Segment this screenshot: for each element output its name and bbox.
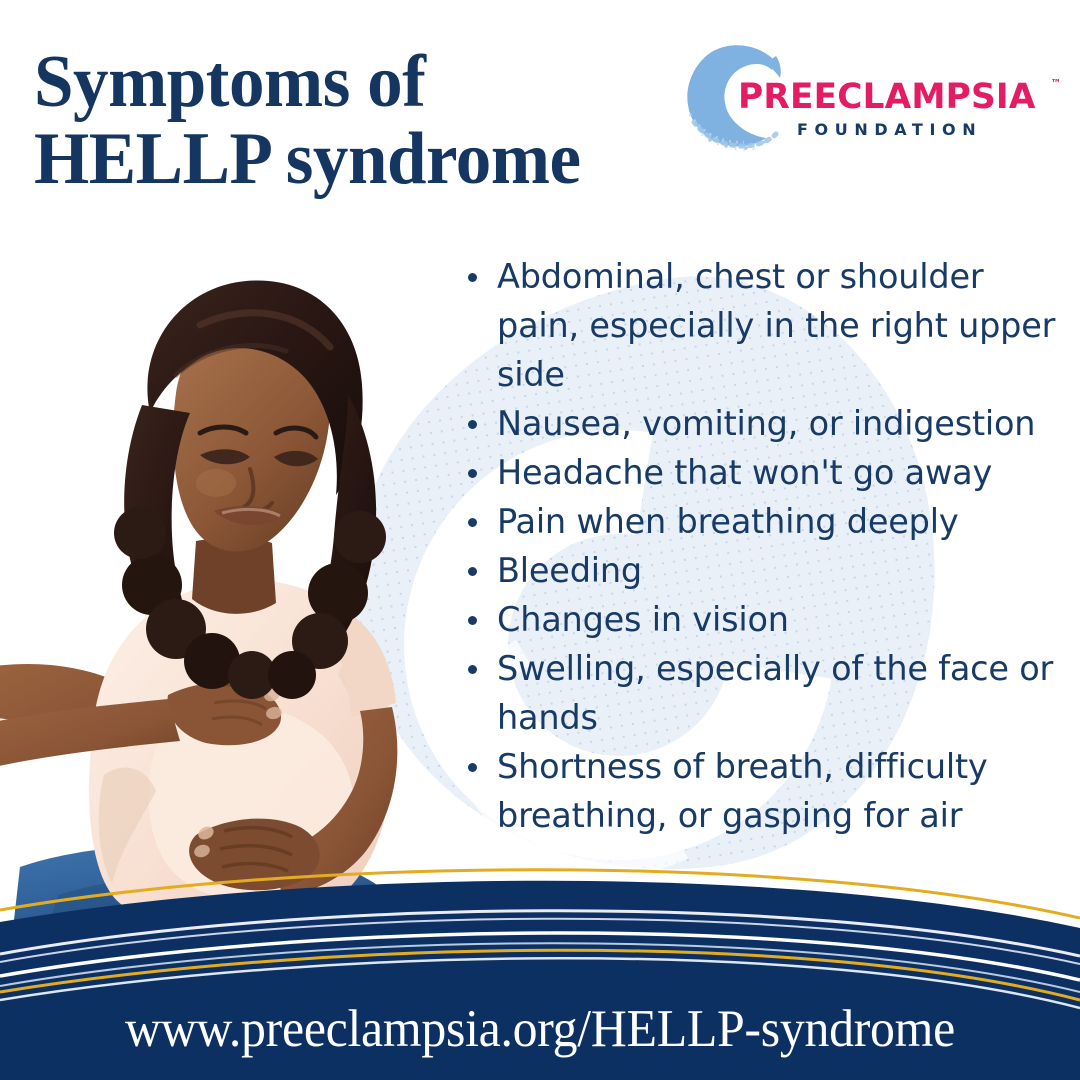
list-item: Abdominal, chest or shoulder pain, espec… — [462, 252, 1074, 399]
footer-url[interactable]: www.preeclampsia.org/HELLP-syndrome — [32, 1000, 1047, 1058]
preeclampsia-foundation-logo: PREECLAMPSIA ™ FOUNDATION — [680, 36, 1052, 162]
list-item: Bleeding — [462, 546, 1074, 595]
page-title: Symptoms of HELLP syndrome — [34, 44, 696, 198]
logo-wordmark-group: PREECLAMPSIA ™ FOUNDATION — [738, 80, 1052, 138]
list-item: Headache that won't go away — [462, 448, 1074, 497]
symptom-list: Abdominal, chest or shoulder pain, espec… — [462, 252, 1074, 840]
infographic-poster: Symptoms of HELLP syndrome PREECLAMPSIA … — [0, 0, 1080, 1080]
list-item: Pain when breathing deeply — [462, 497, 1074, 546]
logo-subtitle: FOUNDATION — [797, 122, 1052, 138]
list-item: Swelling, especially of the face or hand… — [462, 644, 1074, 742]
list-item: Changes in vision — [462, 595, 1074, 644]
logo-wordmark: PREECLAMPSIA ™ — [738, 80, 1046, 115]
logo-wordmark-text: PREECLAMPSIA — [738, 77, 1036, 117]
list-item: Nausea, vomiting, or indigestion — [462, 399, 1074, 448]
list-item: Shortness of breath, difficulty breathin… — [462, 742, 1074, 840]
trademark-icon: ™ — [1051, 78, 1062, 89]
